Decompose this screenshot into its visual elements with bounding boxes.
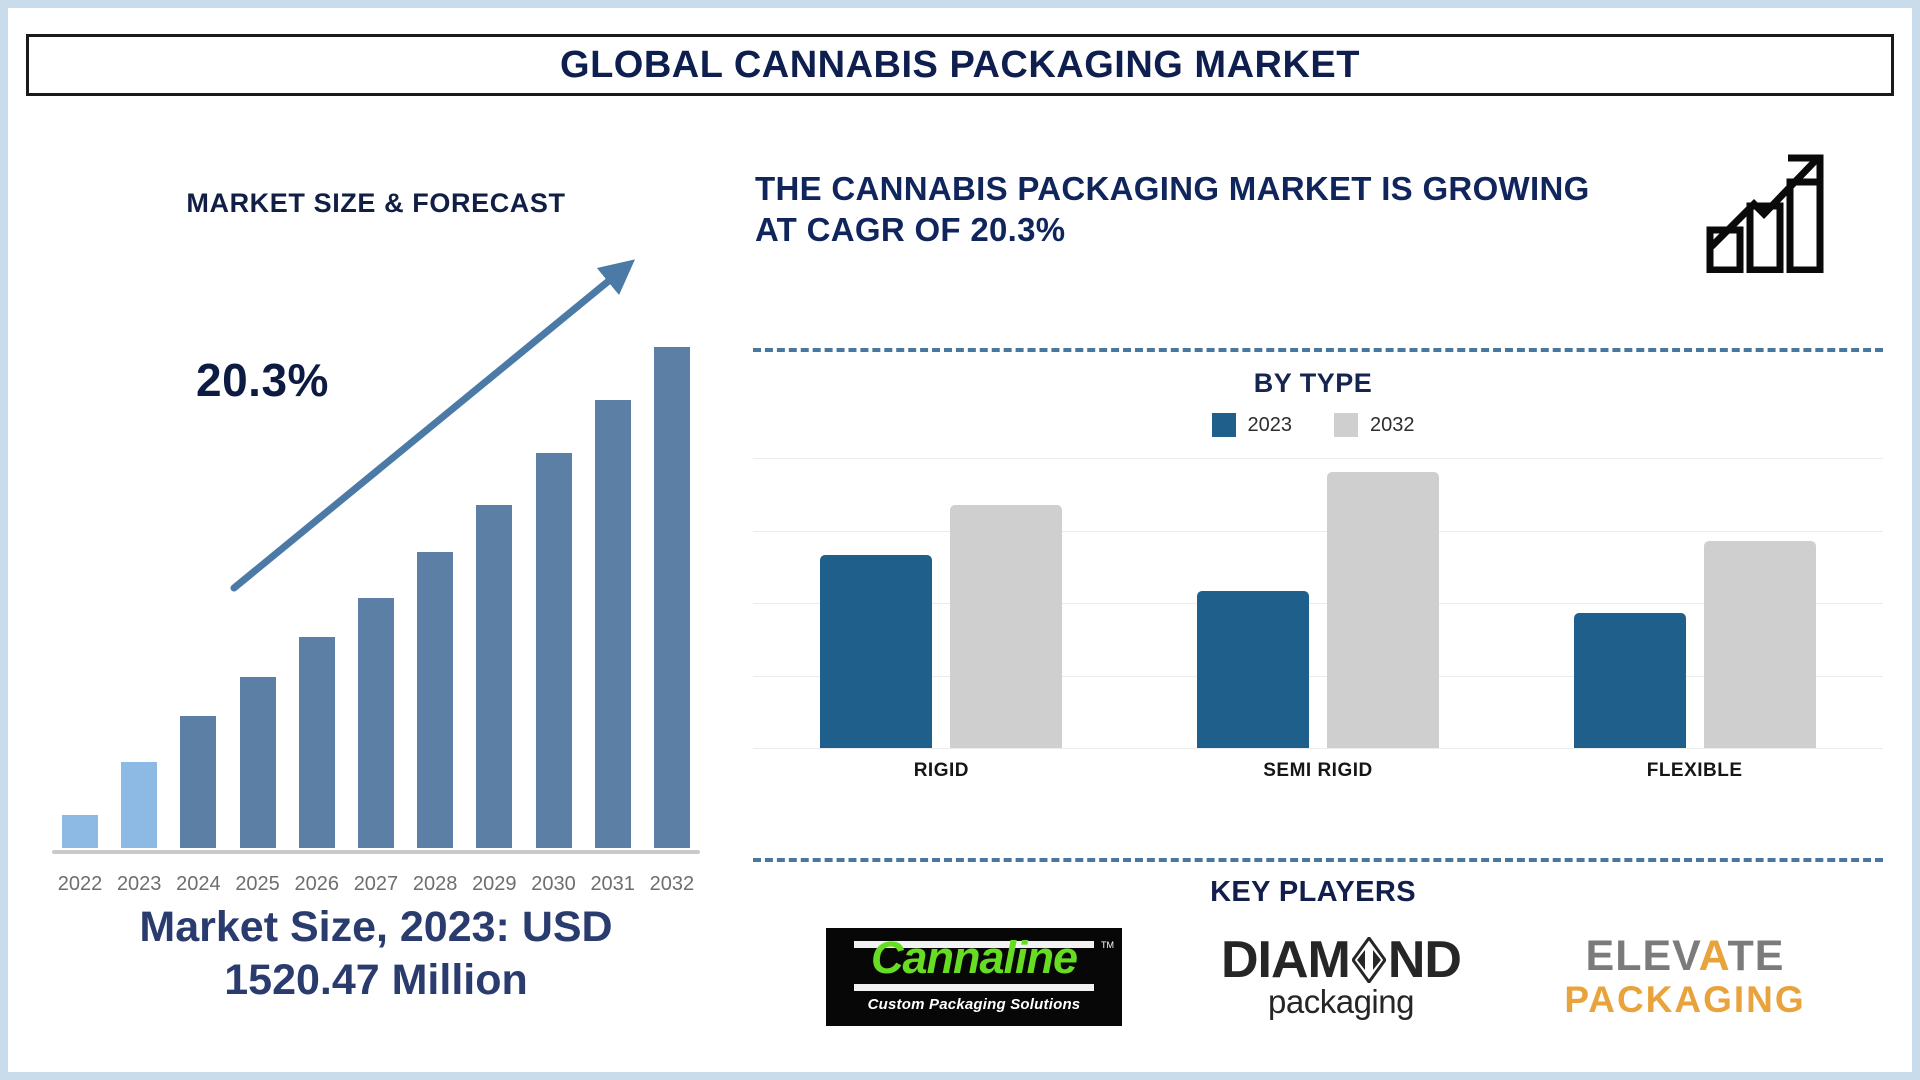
growth-bar-2025	[240, 677, 276, 848]
diamond-wordmark: DIAM ND	[1221, 933, 1461, 988]
bar-semi-rigid-2032	[1327, 472, 1439, 748]
logo-elevate-packaging: ELEVATE PACKAGING	[1560, 934, 1810, 1020]
cannaline-wordmark: Cannaline	[871, 935, 1077, 980]
bar-group-semi-rigid	[1197, 458, 1439, 748]
by-type-title: BY TYPE	[743, 368, 1883, 399]
infographic-page: GLOBAL CANNABIS PACKAGING MARKET MARKET …	[0, 0, 1920, 1080]
growth-chart-icon	[1706, 148, 1836, 273]
elevate-top-accent: A	[1699, 932, 1728, 980]
page-title-box: GLOBAL CANNABIS PACKAGING MARKET	[26, 34, 1894, 96]
bar-flexible-2032	[1704, 541, 1816, 748]
growth-bar-col	[648, 288, 696, 848]
growth-bar-2026	[299, 637, 335, 848]
growth-bar-2022	[62, 815, 98, 848]
growth-bar-col	[56, 288, 104, 848]
key-players-title: KEY PLAYERS	[743, 876, 1883, 909]
year-label: 2023	[115, 873, 163, 896]
growth-bar-2027	[358, 598, 394, 848]
cannaline-rule-bottom	[854, 984, 1094, 991]
year-label: 2025	[234, 873, 282, 896]
bar-rigid-2032	[950, 505, 1062, 748]
growth-bar-2029	[476, 505, 512, 848]
growth-bar-col	[470, 288, 518, 848]
logo-diamond-packaging: DIAM ND packaging	[1196, 933, 1486, 1022]
growth-bar-2030	[536, 453, 572, 848]
by-type-legend: 2023 2032	[743, 413, 1883, 437]
category-label-semi-rigid: SEMI RIGID	[1188, 760, 1448, 782]
divider-bottom	[753, 858, 1883, 862]
growth-bar-2028	[417, 552, 453, 848]
market-size-bar-chart: 2022 2023 2024 2025 2026 2027 2028 2029 …	[46, 268, 706, 958]
year-label: 2022	[56, 873, 104, 896]
legend-swatch-icon-2032	[1334, 413, 1358, 437]
diamond-word-before: DIAM	[1221, 933, 1350, 988]
growth-bar-2031	[595, 400, 631, 848]
diamond-glyph-icon	[1352, 937, 1386, 983]
market-size-forecast-heading: MARKET SIZE & FORECAST	[26, 188, 726, 219]
year-label: 2027	[352, 873, 400, 896]
year-label: 2030	[530, 873, 578, 896]
growth-bar-col	[589, 288, 637, 848]
year-label: 2026	[293, 873, 341, 896]
legend-item-2023: 2023	[1212, 413, 1293, 437]
growth-bar-col	[234, 288, 282, 848]
logo-cannaline: TM Cannaline Custom Packaging Solutions	[826, 928, 1122, 1026]
market-size-forecast-panel: MARKET SIZE & FORECAST 20.3%	[26, 118, 726, 1048]
by-type-category-labels: RIGID SEMI RIGID FLEXIBLE	[753, 760, 1883, 782]
bar-flexible-2023	[1574, 613, 1686, 748]
elevate-top-after: TE	[1728, 932, 1785, 980]
legend-label-2032: 2032	[1370, 414, 1415, 437]
category-label-flexible: FLEXIBLE	[1565, 760, 1825, 782]
growth-bar-2032	[654, 347, 690, 848]
category-label-rigid: RIGID	[811, 760, 1071, 782]
by-type-bar-chart	[753, 458, 1883, 748]
growth-bar-col	[411, 288, 459, 848]
cannaline-tagline: Custom Packaging Solutions	[868, 996, 1081, 1013]
elevate-top-before: ELEV	[1586, 932, 1699, 980]
right-panel: THE CANNABIS PACKAGING MARKET IS GROWING…	[743, 118, 1898, 1048]
year-label: 2032	[648, 873, 696, 896]
growth-chart-axis	[52, 850, 700, 854]
growth-bar-col	[352, 288, 400, 848]
market-size-line-1: Market Size, 2023: USD	[139, 903, 612, 951]
legend-item-2032: 2032	[1334, 413, 1415, 437]
growth-bar-2024	[180, 716, 216, 848]
market-size-value: Market Size, 2023: USD 1520.47 Million	[46, 901, 706, 1009]
market-size-line-2: 1520.47 Million	[224, 956, 528, 1004]
bar-rigid-2023	[820, 555, 932, 748]
cagr-statement: THE CANNABIS PACKAGING MARKET IS GROWING…	[755, 168, 1625, 251]
diamond-subtitle: packaging	[1268, 983, 1414, 1021]
year-label: 2024	[174, 873, 222, 896]
year-label: 2031	[589, 873, 637, 896]
growth-bar-col	[293, 288, 341, 848]
bar-semi-rigid-2023	[1197, 591, 1309, 748]
bar-group-rigid	[820, 458, 1062, 748]
year-label: 2029	[470, 873, 518, 896]
growth-year-labels: 2022 2023 2024 2025 2026 2027 2028 2029 …	[56, 873, 696, 896]
legend-label-2023: 2023	[1248, 414, 1293, 437]
growth-bar-col	[530, 288, 578, 848]
key-players-logos: TM Cannaline Custom Packaging Solutions …	[743, 928, 1893, 1026]
divider-top	[753, 348, 1883, 352]
growth-bar-col	[174, 288, 222, 848]
growth-bar-col	[115, 288, 163, 848]
legend-swatch-icon-2023	[1212, 413, 1236, 437]
year-label: 2028	[411, 873, 459, 896]
bar-group-flexible	[1574, 458, 1816, 748]
by-type-bar-groups	[753, 458, 1883, 748]
growth-bar-2023	[121, 762, 157, 848]
growth-bars	[56, 288, 696, 848]
cannaline-tm: TM	[1101, 940, 1114, 950]
page-title: GLOBAL CANNABIS PACKAGING MARKET	[560, 44, 1360, 87]
elevate-subtitle: PACKAGING	[1564, 981, 1805, 1020]
diamond-word-after: ND	[1388, 933, 1461, 988]
elevate-wordmark: ELEVATE	[1586, 934, 1785, 979]
